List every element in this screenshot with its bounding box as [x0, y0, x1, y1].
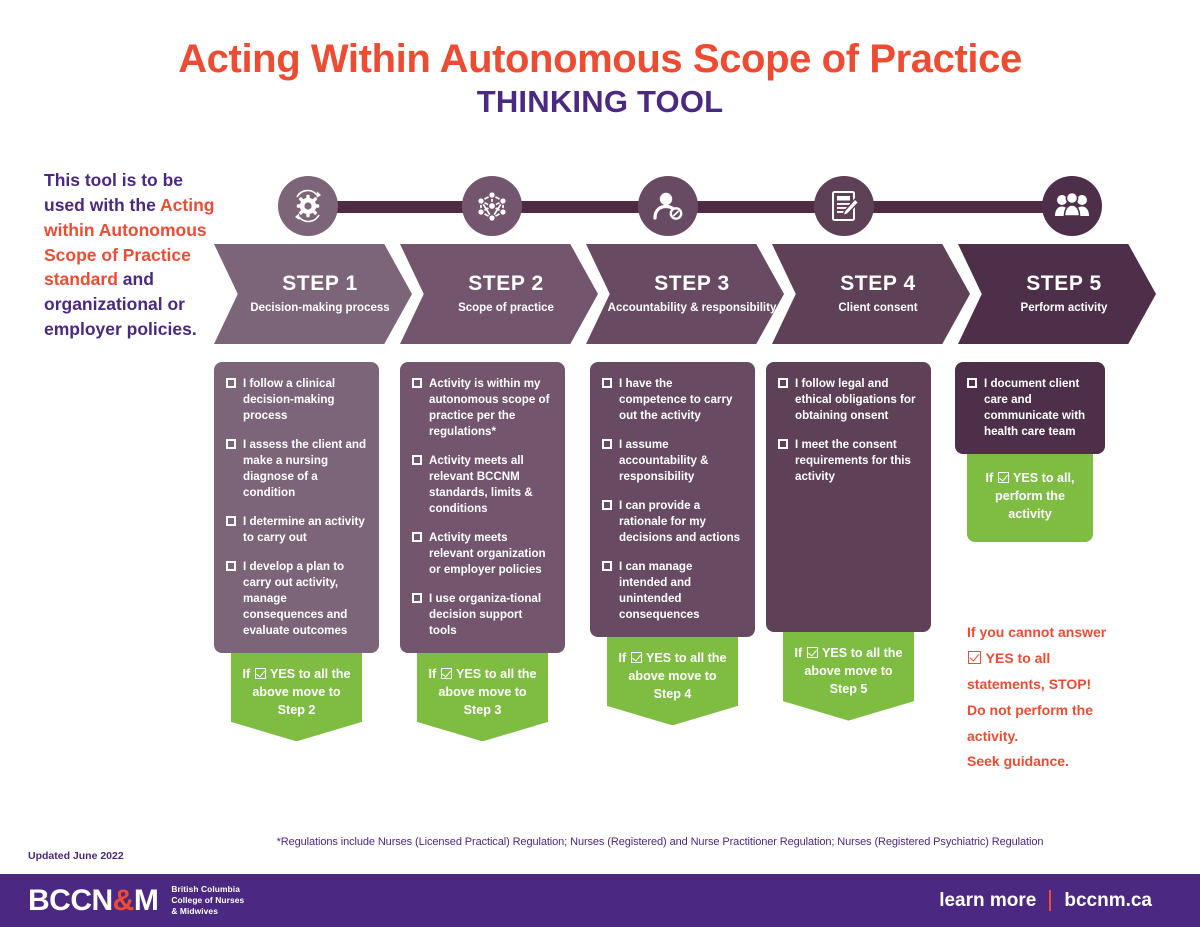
checklist-label: I meet the consent requirements for this… [795, 437, 919, 485]
checklist-label: I assess the client and make a nursing d… [243, 437, 367, 501]
footnote: *Regulations include Nurses (Licensed Pr… [180, 836, 1140, 848]
checkbox-icon[interactable] [226, 561, 236, 571]
checklist-item[interactable]: I follow legal and ethical obligations f… [778, 376, 919, 424]
banner-prefix: If [985, 471, 996, 485]
warning-line-2: YES to all [967, 646, 1147, 672]
checklist-label: Activity meets relevant organization or … [429, 530, 553, 578]
footer-links: learn more bccnm.ca [939, 890, 1152, 912]
step-number: STEP 2 [468, 272, 544, 296]
checkbox-icon[interactable] [602, 500, 612, 510]
step-column-1: I follow a clinical decision-making proc… [214, 362, 379, 741]
step-caption: Scope of practice [458, 301, 554, 315]
checklist-label: I develop a plan to carry out activity, … [243, 559, 367, 639]
check-tick-icon [998, 472, 1009, 483]
checklist-label: I can provide a rationale for my decisio… [619, 498, 743, 546]
step-banner-1: If YES to all the above move to Step 2 [231, 653, 362, 742]
step-number: STEP 3 [654, 272, 730, 296]
step-number: STEP 1 [282, 272, 358, 296]
banner-text: YES to all the above move to Step 2 [252, 667, 350, 717]
checklist-label: I determine an activity to carry out [243, 514, 367, 546]
step-number: STEP 4 [840, 272, 916, 296]
checklist-item[interactable]: I determine an activity to carry out [226, 514, 367, 546]
checklist-item[interactable]: I assess the client and make a nursing d… [226, 437, 367, 501]
checklist-label: I assume accountability & responsibility [619, 437, 743, 485]
checklist-item[interactable]: I follow a clinical decision-making proc… [226, 376, 367, 424]
checklist-item[interactable]: I meet the consent requirements for this… [778, 437, 919, 485]
document-pen-icon [814, 176, 874, 236]
step-banner-2: If YES to all the above move to Step 3 [417, 653, 548, 742]
checkbox-icon[interactable] [602, 561, 612, 571]
step-column-3: I have the competence to carry out the a… [590, 362, 755, 725]
step-banner-4: If YES to all the above move to Step 5 [783, 632, 914, 721]
checklist-panel-4: I follow legal and ethical obligations f… [766, 362, 931, 632]
checklist-panel-5: I document client care and communicate w… [955, 362, 1105, 454]
checklist-item[interactable]: I use organiza-tional decision support t… [412, 591, 553, 639]
checklist-label: I use organiza-tional decision support t… [429, 591, 553, 639]
logo-tagline: British Columbia College of Nurses & Mid… [171, 884, 244, 917]
checklist-item[interactable]: Activity is within my autonomous scope o… [412, 376, 553, 440]
checkbox-icon[interactable] [602, 378, 612, 388]
step-caption: Client consent [838, 301, 917, 315]
step-column-2: Activity is within my autonomous scope o… [400, 362, 565, 741]
step-caption: Perform activity [1021, 301, 1108, 315]
checkbox-icon[interactable] [226, 439, 236, 449]
warning-line-4: Do not perform the activity. [967, 698, 1147, 750]
check-tick-icon [631, 652, 642, 663]
banner-text: YES to all the above move to Step 3 [438, 667, 536, 717]
tagline-line-2: College of Nurses [171, 895, 244, 906]
checkbox-icon[interactable] [778, 439, 788, 449]
learn-more-label: learn more [939, 890, 1036, 912]
checklist-label: Activity meets all relevant BCCNM standa… [429, 453, 553, 517]
title-block: Acting Within Autonomous Scope of Practi… [0, 0, 1200, 120]
step-header-5[interactable]: STEP 5 Perform activity [958, 244, 1156, 344]
logo-wordmark: BCCN&M [28, 884, 158, 918]
banner-prefix: If [243, 667, 254, 681]
checklist-label: I have the competence to carry out the a… [619, 376, 743, 424]
check-tick-icon [807, 647, 818, 658]
warning-line-3: statements, STOP! [967, 672, 1147, 698]
checklist-item[interactable]: I assume accountability & responsibility [602, 437, 743, 485]
step-header-4[interactable]: STEP 4 Client consent [772, 244, 970, 344]
banner-text: YES to all the above move to Step 4 [628, 651, 726, 701]
banner-prefix: If [795, 646, 806, 660]
warning-line-2-text: YES to all [982, 650, 1050, 666]
checklist-item[interactable]: Activity meets relevant organization or … [412, 530, 553, 578]
checklist-item[interactable]: I can provide a rationale for my decisio… [602, 498, 743, 546]
step-column-4: I follow legal and ethical obligations f… [766, 362, 931, 721]
check-tick-icon [441, 668, 452, 679]
checklist-panel-1: I follow a clinical decision-making proc… [214, 362, 379, 653]
checkbox-icon[interactable] [412, 593, 422, 603]
step-banner-3: If YES to all the above move to Step 4 [607, 637, 738, 726]
step-banner-5: If YES to all, perform the activity [967, 454, 1093, 542]
checklist-label: Activity is within my autonomous scope o… [429, 376, 553, 440]
website-link[interactable]: bccnm.ca [1064, 890, 1152, 912]
checkbox-icon[interactable] [967, 378, 977, 388]
check-tick-icon [255, 668, 266, 679]
updated-date: Updated June 2022 [28, 850, 124, 862]
checklist-label: I follow legal and ethical obligations f… [795, 376, 919, 424]
warning-line-5: Seek guidance. [967, 749, 1147, 775]
checkbox-icon[interactable] [412, 378, 422, 388]
gear-cycle-icon [278, 176, 338, 236]
person-accountability-icon [638, 176, 698, 236]
molecule-network-icon [462, 176, 522, 236]
intro-text: This tool is to be used with the Acting … [44, 168, 222, 342]
tagline-line-3: & Midwives [171, 906, 244, 917]
check-tick-icon [968, 651, 981, 664]
step-header-2[interactable]: STEP 2 Scope of practice [400, 244, 598, 344]
checklist-item[interactable]: Activity meets all relevant BCCNM standa… [412, 453, 553, 517]
warning-line-1: If you cannot answer [967, 620, 1147, 646]
step-caption: Accountability & responsibility [608, 301, 777, 315]
logo-part-a: BCCN [28, 884, 113, 917]
checklist-item[interactable]: I have the competence to carry out the a… [602, 376, 743, 424]
page-subtitle: THINKING TOOL [0, 84, 1200, 120]
checkbox-icon[interactable] [226, 516, 236, 526]
checklist-panel-3: I have the competence to carry out the a… [590, 362, 755, 637]
page-title: Acting Within Autonomous Scope of Practi… [0, 38, 1200, 80]
footer-bar: BCCN&M British Columbia College of Nurse… [0, 874, 1200, 927]
checklist-item[interactable]: I document client care and communicate w… [967, 376, 1093, 440]
checklist-label: I follow a clinical decision-making proc… [243, 376, 367, 424]
step-caption: Decision-making process [250, 301, 389, 315]
tagline-line-1: British Columbia [171, 884, 244, 895]
step-column-5: I document client care and communicate w… [955, 362, 1105, 542]
step-header-3[interactable]: STEP 3 Accountability & responsibility [586, 244, 784, 344]
checkbox-icon[interactable] [226, 378, 236, 388]
checkbox-icon[interactable] [412, 532, 422, 542]
step-number: STEP 5 [1026, 272, 1102, 296]
checkbox-icon[interactable] [412, 455, 422, 465]
checklist-label: I document client care and communicate w… [984, 376, 1093, 440]
bccnm-logo[interactable]: BCCN&M British Columbia College of Nurse… [28, 884, 244, 918]
checklist-item[interactable]: I develop a plan to carry out activity, … [226, 559, 367, 639]
checklist-item[interactable]: I can manage intended and unintended con… [602, 559, 743, 623]
banner-prefix: If [619, 651, 630, 665]
checkbox-icon[interactable] [778, 378, 788, 388]
checklist-label: I can manage intended and unintended con… [619, 559, 743, 623]
logo-ampersand: & [113, 884, 134, 917]
logo-part-b: M [134, 884, 159, 917]
timeline [230, 176, 1160, 236]
banner-text: YES to all the above move to Step 5 [804, 646, 902, 696]
step-header-row: STEP 1 Decision-making process STEP 2 Sc… [214, 244, 1154, 344]
checkbox-icon[interactable] [602, 439, 612, 449]
banner-prefix: If [429, 667, 440, 681]
footer-divider [1049, 890, 1051, 911]
checklist-panel-2: Activity is within my autonomous scope o… [400, 362, 565, 653]
step-header-1[interactable]: STEP 1 Decision-making process [214, 244, 412, 344]
warning-block: If you cannot answer YES to all statemen… [967, 620, 1147, 775]
people-group-icon [1042, 176, 1102, 236]
